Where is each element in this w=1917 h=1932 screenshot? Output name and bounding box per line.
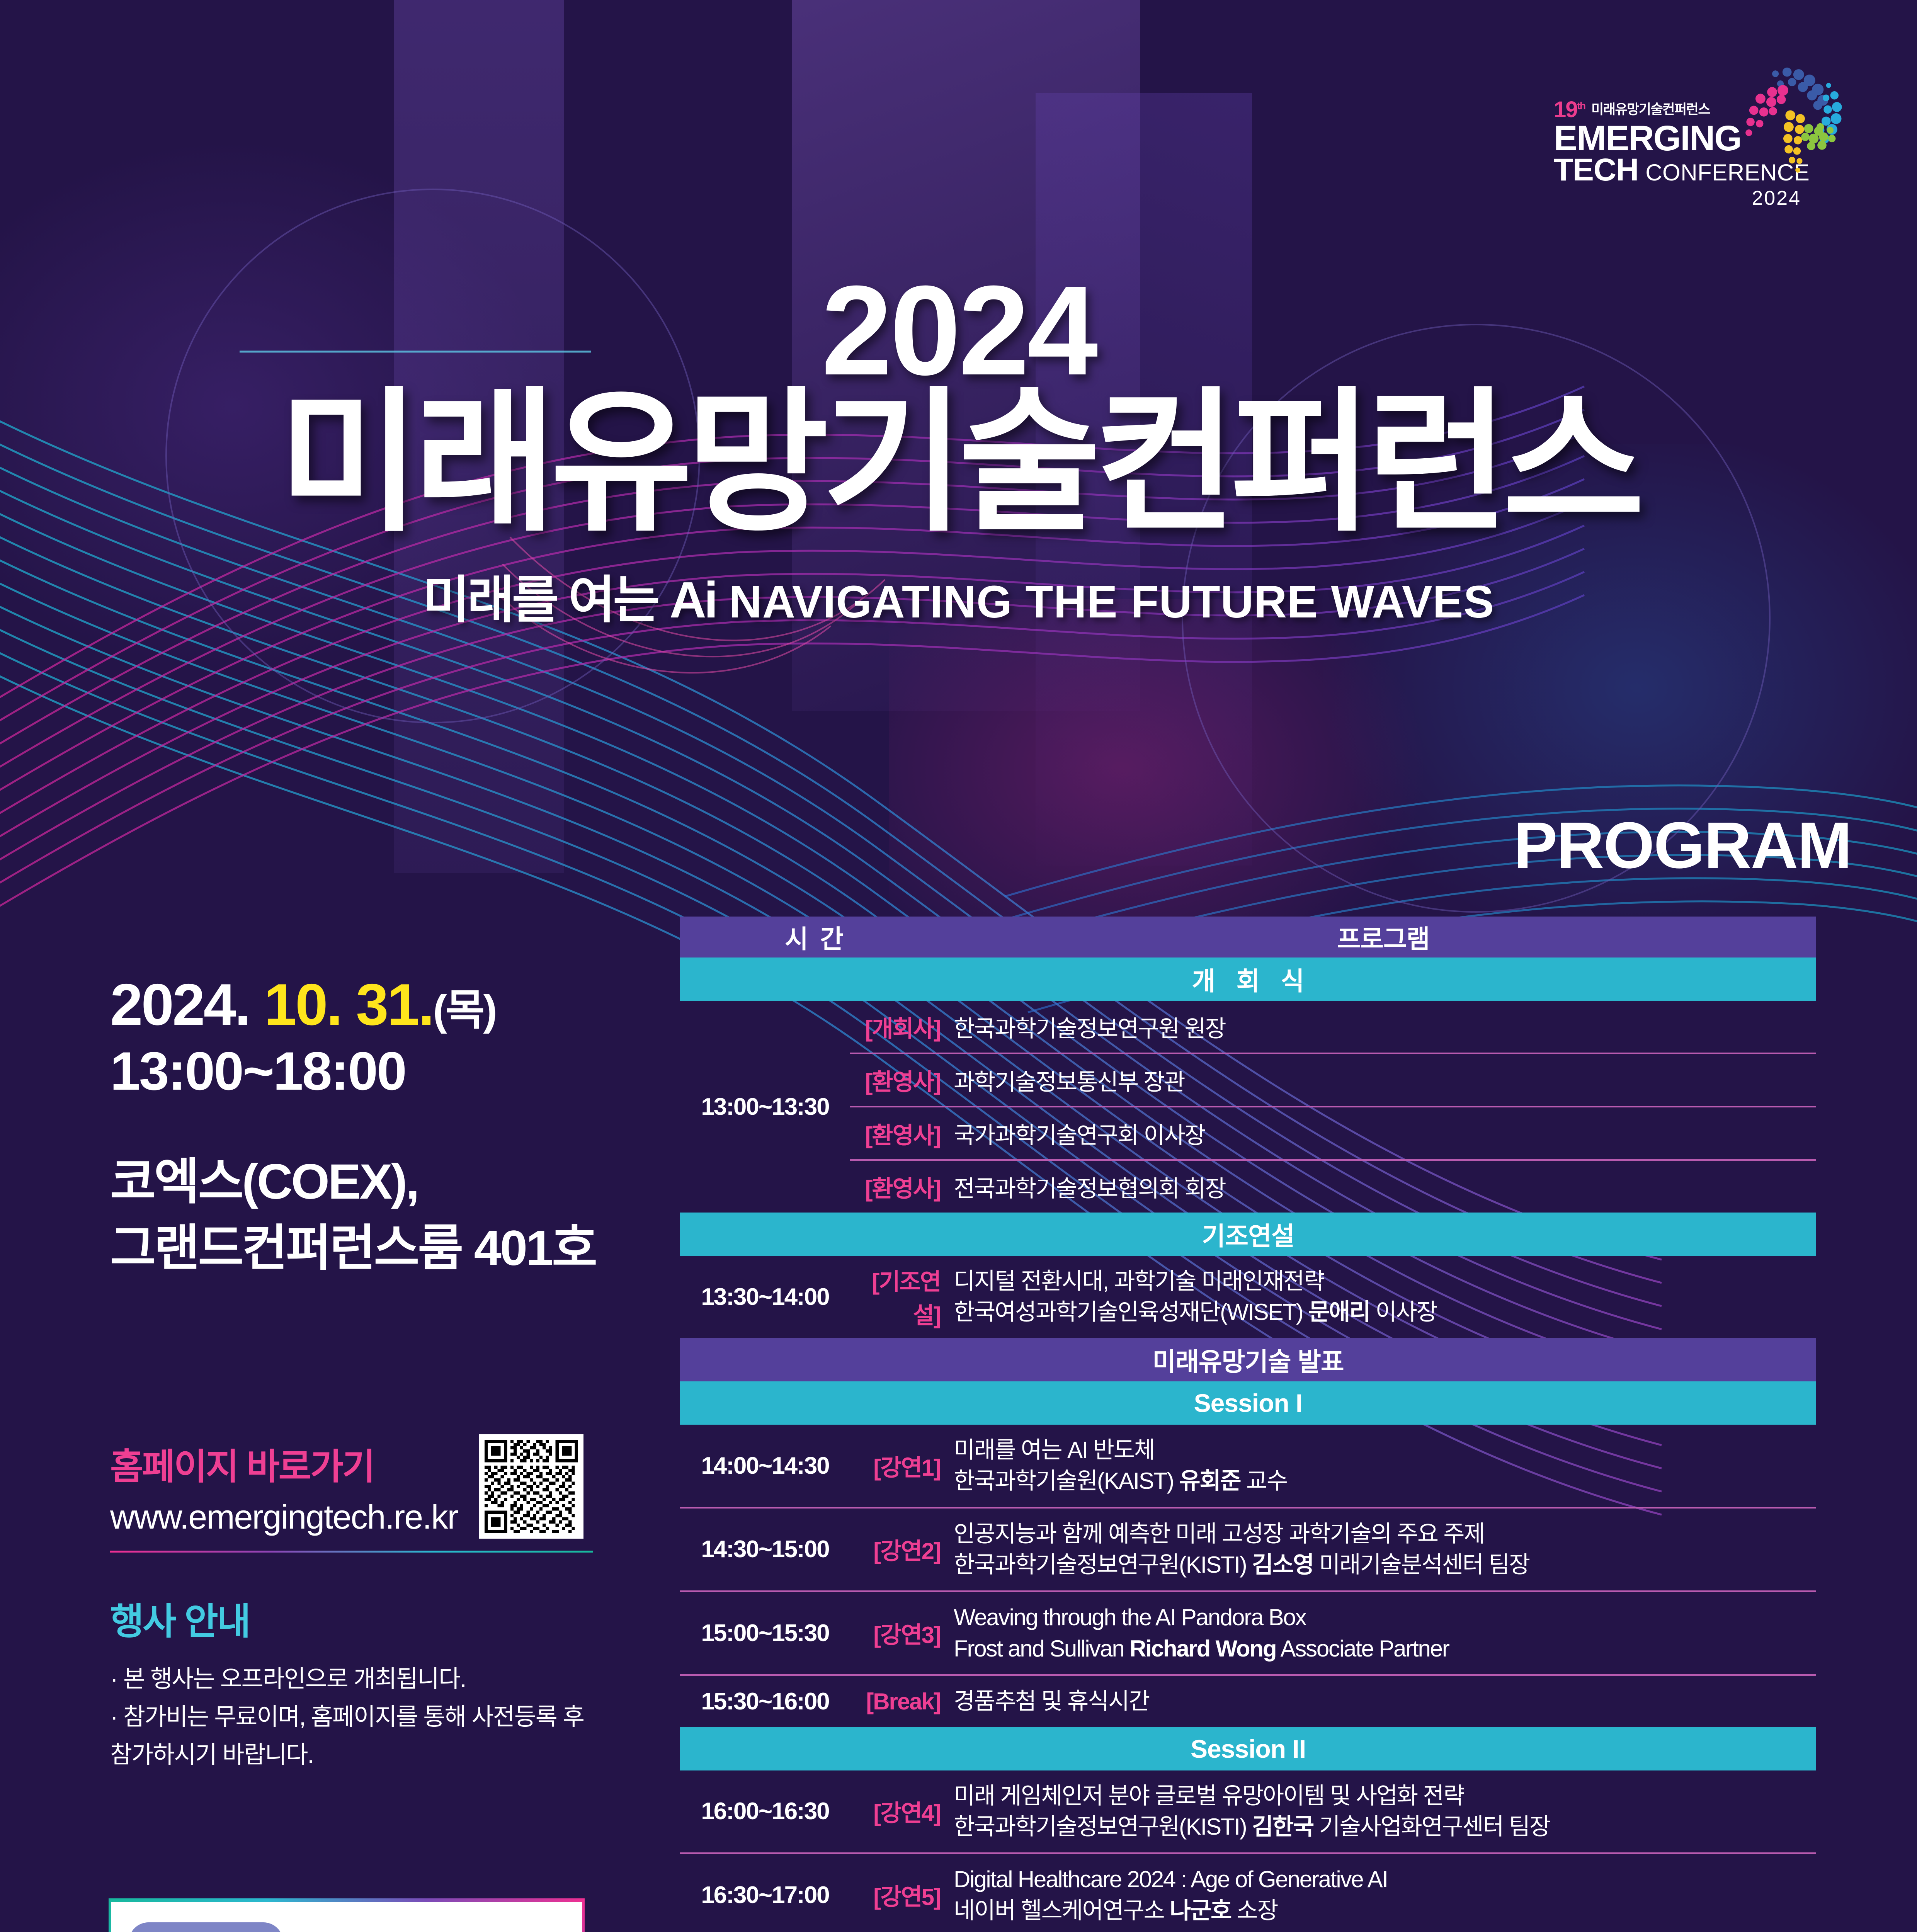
logo-edition: 19th bbox=[1554, 100, 1585, 120]
break-row: 15:30~16:00 [Break] 경품추첨 및 휴식시간 bbox=[680, 1676, 1816, 1727]
logo-tech: TECH bbox=[1554, 155, 1638, 185]
event-notice-title: 행사 안내 bbox=[110, 1592, 597, 1645]
title-main: 미래유망기술컨퍼런스 bbox=[0, 383, 1917, 543]
row-body: 국가과학기술연구회 이사장 bbox=[954, 1117, 1816, 1150]
row-body: 경품추첨 및 휴식시간 bbox=[954, 1676, 1816, 1727]
program-heading: PROGRAM bbox=[1514, 808, 1851, 883]
keynote-tag: [기조연설] bbox=[850, 1263, 954, 1330]
lecture-title: Weaving through the AI Pandora Box bbox=[954, 1602, 1809, 1633]
event-date: 2024. 10. 31.(목) bbox=[110, 974, 612, 1036]
session1-row-3: 15:00~15:30 [강연3] Weaving through the AI… bbox=[680, 1592, 1816, 1674]
row-body: Weaving through the AI Pandora Box Frost… bbox=[954, 1592, 1816, 1674]
section-band-opening: 개 회 식 bbox=[680, 957, 1816, 1001]
prize-row-preregistered: 사전등록자 대상 모바일 커피교환권 추첨(150인) bbox=[129, 1922, 565, 1932]
session1-row-2: 14:30~15:00 [강연2] 인공지능과 함께 예측한 미래 고성장 과학… bbox=[680, 1509, 1816, 1591]
row-time: 14:30~15:00 bbox=[680, 1536, 850, 1563]
row-tag: [환영사] bbox=[850, 1063, 954, 1097]
row-body: 미래 게임체인저 분야 글로벌 유망아이템 및 사업화 전략 한국과학기술정보연… bbox=[954, 1770, 1816, 1853]
prize-pill: 사전등록자 대상 bbox=[129, 1922, 283, 1932]
row-body: 미래를 여는 AI 반도체 한국과학기술원(KAIST) 유회준 교수 bbox=[954, 1425, 1816, 1507]
table-row: [개회사] 한국과학기술정보연구원 원장 bbox=[850, 1001, 1816, 1053]
lecture-speaker: 네이버 헬스케어연구소 나군호 소장 bbox=[954, 1895, 1809, 1926]
keynote-row: 13:30~14:00 [기조연설] 디지털 전환시대, 과학기술 미래인재전략… bbox=[680, 1256, 1816, 1338]
row-tag: [강연1] bbox=[850, 1449, 954, 1483]
event-notice-section: 행사 안내 · 본 행사는 오프라인으로 개최됩니다. · 참가비는 무료이며,… bbox=[110, 1592, 597, 1774]
session1-row-1: 14:00~14:30 [강연1] 미래를 여는 AI 반도체 한국과학기술원(… bbox=[680, 1425, 1816, 1507]
dots-swirl-icon bbox=[1689, 52, 1855, 218]
section-band-keynote: 기조연설 bbox=[680, 1213, 1816, 1256]
event-notice-list: · 본 행사는 오프라인으로 개최됩니다. · 참가비는 무료이며, 홈페이지를… bbox=[110, 1660, 597, 1774]
row-body: 인공지능과 함께 예측한 미래 고성장 과학기술의 주요 주제 한국과학기술정보… bbox=[954, 1509, 1816, 1591]
lecture-title: Digital Healthcare 2024 : Age of Generat… bbox=[954, 1864, 1809, 1895]
lecture-title: 미래 게임체인저 분야 글로벌 유망아이템 및 사업화 전략 bbox=[954, 1781, 1809, 1811]
row-tag: [개회사] bbox=[850, 1010, 954, 1044]
session2-row-1: 16:00~16:30 [강연4] 미래 게임체인저 분야 글로벌 유망아이템 … bbox=[680, 1770, 1816, 1853]
row-time: 16:00~16:30 bbox=[680, 1798, 850, 1825]
title-subtitle-korean: 미래를 여는 Ai bbox=[423, 559, 716, 633]
opening-group: 13:00~13:30 [개회사] 한국과학기술정보연구원 원장 [환영사] 과… bbox=[680, 1001, 1816, 1213]
divider bbox=[110, 1551, 593, 1553]
row-tag: [환영사] bbox=[850, 1117, 954, 1150]
conference-logo: 19th 미래유망기술컨퍼런스 EMERGING TECH CONFERENCE… bbox=[1554, 99, 1847, 210]
homepage-section: 홈페이지 바로가기 www.emergingtech.re.kr bbox=[110, 1437, 593, 1553]
row-body: Digital Healthcare 2024 : Age of Generat… bbox=[954, 1854, 1816, 1932]
event-details: 2024. 10. 31.(목) 13:00~18:00 코엑스(COEX), … bbox=[110, 974, 612, 1281]
section-band-future-tech: 미래유망기술 발표 bbox=[680, 1338, 1816, 1381]
card-left-accent bbox=[109, 1898, 111, 1932]
keynote-speaker: 한국여성과학기술인육성재단(WISET) 문애리 이사장 bbox=[954, 1297, 1809, 1328]
card-right-accent bbox=[582, 1898, 585, 1932]
title-subtitle-english: NAVIGATING THE FUTURE WAVES bbox=[729, 576, 1494, 628]
event-time: 13:00~18:00 bbox=[110, 1040, 612, 1102]
keynote-time: 13:30~14:00 bbox=[680, 1283, 850, 1311]
list-item: 참가하시기 바랍니다. bbox=[110, 1736, 597, 1774]
keynote-title: 디지털 전환시대, 과학기술 미래인재전략 bbox=[954, 1266, 1809, 1297]
title-year: 2024 bbox=[0, 267, 1917, 394]
section-band-session1: Session I bbox=[680, 1381, 1816, 1425]
keynote-body: 디지털 전환시대, 과학기술 미래인재전략 한국여성과학기술인육성재단(WISE… bbox=[954, 1256, 1816, 1338]
session2-row-2: 16:30~17:00 [강연5] Digital Healthcare 202… bbox=[680, 1854, 1816, 1932]
section-band-session2: Session II bbox=[680, 1727, 1816, 1770]
lecture-title: 미래를 여는 AI 반도체 bbox=[954, 1435, 1809, 1466]
lecture-speaker: 한국과학기술정보연구원(KISTI) 김한국 기술사업화연구센터 팀장 bbox=[954, 1811, 1809, 1842]
row-time: 16:30~17:00 bbox=[680, 1881, 850, 1909]
row-body: 과학기술정보통신부 장관 bbox=[954, 1063, 1816, 1097]
list-item: · 참가비는 무료이며, 홈페이지를 통해 사전등록 후 bbox=[110, 1698, 597, 1736]
row-tag: [강연5] bbox=[850, 1878, 954, 1912]
lecture-speaker: 한국과학기술정보연구원(KISTI) 김소영 미래기술분석센터 팀장 bbox=[954, 1549, 1809, 1580]
row-body: 한국과학기술정보연구원 원장 bbox=[954, 1010, 1816, 1044]
qr-code[interactable] bbox=[479, 1434, 583, 1539]
prize-card: 사전등록자 대상 모바일 커피교환권 추첨(150인) 현장 참가자 전원 양우… bbox=[109, 1898, 585, 1932]
row-tag: [강연2] bbox=[850, 1532, 954, 1566]
row-time: 15:00~15:30 bbox=[680, 1619, 850, 1647]
table-header-row: 시 간 프로그램 bbox=[680, 917, 1816, 957]
row-body: 전국과학기술정보협의회 회장 bbox=[954, 1170, 1816, 1204]
lecture-speaker: 한국과학기술원(KAIST) 유회준 교수 bbox=[954, 1466, 1809, 1497]
lecture-speaker: Frost and Sullivan Richard Wong Associat… bbox=[954, 1633, 1809, 1664]
row-tag: [강연4] bbox=[850, 1794, 954, 1828]
program-table: 시 간 프로그램 개 회 식 13:00~13:30 [개회사] 한국과학기술정… bbox=[680, 917, 1816, 1932]
table-row: [환영사] 전국과학기술정보협의회 회장 bbox=[850, 1161, 1816, 1213]
list-item: · 본 행사는 오프라인으로 개최됩니다. bbox=[110, 1660, 597, 1698]
row-tag: [강연3] bbox=[850, 1616, 954, 1650]
row-time: 15:30~16:00 bbox=[680, 1688, 850, 1715]
event-venue: 코엑스(COEX), 그랜드컨퍼런스룸 401호 bbox=[110, 1149, 612, 1281]
column-header-program: 프로그램 bbox=[951, 918, 1816, 956]
lecture-title: 인공지능과 함께 예측한 미래 고성장 과학기술의 주요 주제 bbox=[954, 1519, 1809, 1549]
table-row: [환영사] 과학기술정보통신부 장관 bbox=[850, 1054, 1816, 1106]
card-top-accent bbox=[109, 1898, 585, 1902]
table-row: [환영사] 국가과학기술연구회 이사장 bbox=[850, 1107, 1816, 1159]
row-tag: [환영사] bbox=[850, 1170, 954, 1204]
poster-title-block: 2024 미래유망기술컨퍼런스 미래를 여는 Ai NAVIGATING THE… bbox=[0, 267, 1917, 633]
row-tag: [Break] bbox=[850, 1688, 954, 1715]
row-time: 14:00~14:30 bbox=[680, 1452, 850, 1480]
prize-description: 모바일 커피교환권 추첨(150인) bbox=[295, 1928, 539, 1932]
opening-time: 13:00~13:30 bbox=[680, 1001, 850, 1213]
column-header-time: 시 간 bbox=[680, 918, 951, 956]
